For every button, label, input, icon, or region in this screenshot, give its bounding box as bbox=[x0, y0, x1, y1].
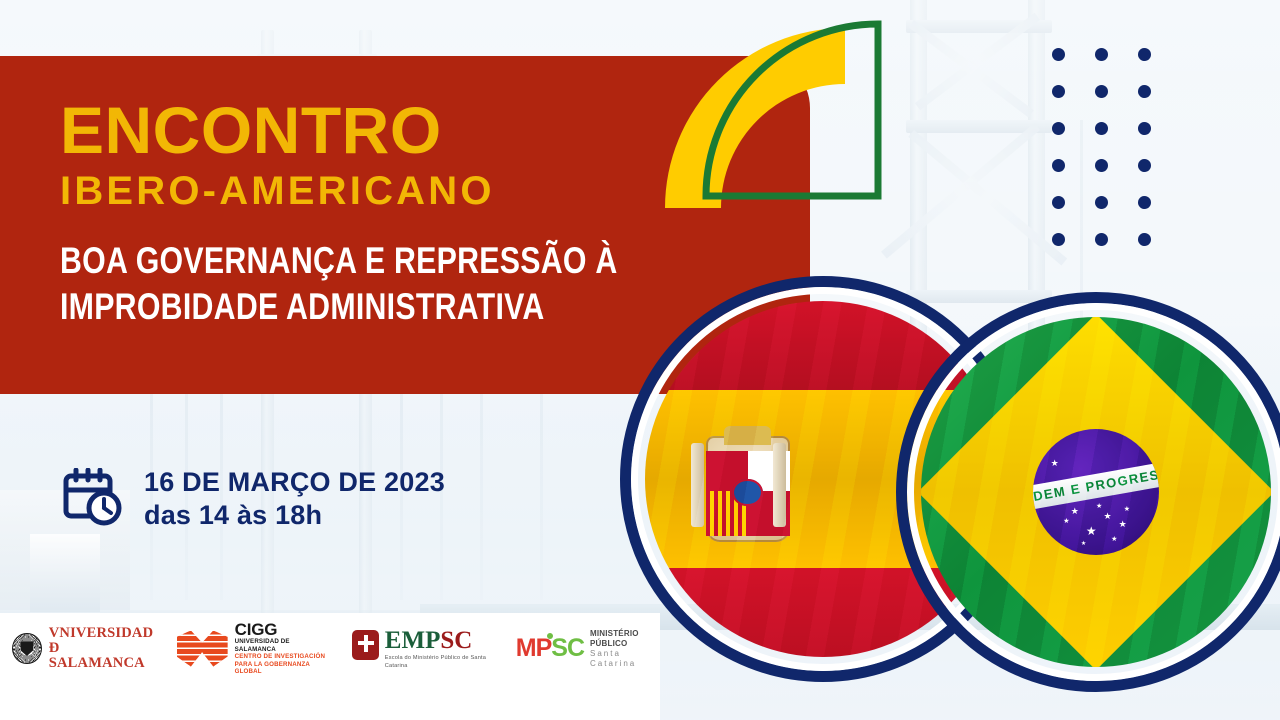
cigg-line1: UNIVERSIDAD DE SALAMANCA bbox=[235, 638, 327, 653]
cigg-wordmark: CIGG UNIVERSIDAD DE SALAMANCA CENTRO DE … bbox=[235, 621, 327, 676]
dot bbox=[1052, 85, 1065, 98]
cigg-line3: PARA LA GOBERNANZA GLOBAL bbox=[235, 661, 327, 676]
dot bbox=[1138, 122, 1151, 135]
cigg-blocks-icon bbox=[177, 631, 228, 667]
bottom-white-strip bbox=[0, 684, 660, 720]
empsc-emblem-icon bbox=[352, 630, 378, 660]
brazil-flag-face: ★ ★ ★ ★ ★ ★ ★ ★ ★ ★ ORDEM E PROGRESSO bbox=[921, 317, 1271, 667]
dot bbox=[1095, 122, 1108, 135]
cigg-line2: CENTRO DE INVESTIGACIÓN bbox=[235, 653, 327, 661]
mpsc-dot-icon bbox=[547, 633, 553, 639]
cigg-logo[interactable]: CIGG UNIVERSIDAD DE SALAMANCA CENTRO DE … bbox=[177, 621, 327, 676]
empsc-tagline: Escola do Ministério Público de Santa Ca… bbox=[385, 654, 496, 670]
mpsc-part1: MP bbox=[516, 634, 552, 662]
dot bbox=[1138, 48, 1151, 61]
event-theme-text: BOA GOVERNANÇA E REPRESSÃO À IMPROBIDADE… bbox=[60, 238, 618, 330]
dot bbox=[1095, 233, 1108, 246]
mpsc-line2: Santa Catarina bbox=[590, 649, 660, 669]
event-datetime: 16 DE MARÇO DE 2023 das 14 às 18h bbox=[62, 466, 445, 532]
mpsc-part2: SC bbox=[551, 634, 584, 662]
sponsor-logo-bar: VNIVERSIDAD Ð SALAMANCA CIGG UNIVERSIDAD… bbox=[0, 613, 660, 684]
datetime-text: 16 DE MARÇO DE 2023 das 14 às 18h bbox=[144, 466, 445, 532]
empsc-logo[interactable]: EMPSC Escola do Ministério Público de Sa… bbox=[352, 628, 495, 670]
dot bbox=[1138, 159, 1151, 172]
dot bbox=[1052, 159, 1065, 172]
title-block: ENCONTRO IBERO-AMERICANO BOA GOVERNANÇA … bbox=[60, 96, 740, 330]
brazil-flag-circle: ★ ★ ★ ★ ★ ★ ★ ★ ★ ★ ORDEM E PROGRESSO bbox=[896, 292, 1280, 692]
page-title: ENCONTRO bbox=[60, 96, 740, 164]
dot bbox=[1138, 196, 1151, 209]
page-subtitle-ibero: IBERO-AMERICANO bbox=[60, 166, 740, 216]
usal-line1: VNIVERSIDAD bbox=[49, 626, 155, 641]
dot bbox=[1052, 48, 1065, 61]
empsc-part1: EMP bbox=[385, 627, 441, 654]
dot bbox=[1052, 122, 1065, 135]
dot bbox=[1095, 196, 1108, 209]
event-time: das 14 às 18h bbox=[144, 499, 445, 532]
universidad-de-salamanca-logo[interactable]: VNIVERSIDAD Ð SALAMANCA bbox=[12, 626, 155, 671]
mpsc-line1: MINISTÉRIO PÚBLICO bbox=[590, 629, 660, 649]
dot bbox=[1052, 233, 1065, 246]
dot bbox=[1138, 233, 1151, 246]
mpsc-subtitle: MINISTÉRIO PÚBLICO Santa Catarina bbox=[590, 629, 660, 669]
calendar-clock-icon bbox=[62, 468, 124, 531]
mpsc-wordmark: MPSC bbox=[516, 636, 584, 661]
usal-wordmark: VNIVERSIDAD Ð SALAMANCA bbox=[49, 626, 155, 671]
dot bbox=[1052, 196, 1065, 209]
dot bbox=[1095, 159, 1108, 172]
dot bbox=[1138, 85, 1151, 98]
event-poster: ENCONTRO IBERO-AMERICANO BOA GOVERNANÇA … bbox=[0, 0, 1280, 720]
empsc-wordmark: EMPSC Escola do Ministério Público de Sa… bbox=[385, 628, 496, 670]
salamanca-seal-icon bbox=[12, 633, 42, 664]
cigg-acronym: CIGG bbox=[235, 621, 327, 638]
dot bbox=[1095, 48, 1108, 61]
dot bbox=[1095, 85, 1108, 98]
dot-grid-decoration bbox=[1052, 48, 1181, 270]
brazil-flag-ring: ★ ★ ★ ★ ★ ★ ★ ★ ★ ★ ORDEM E PROGRESSO bbox=[907, 303, 1280, 681]
empsc-part2: SC bbox=[440, 627, 472, 654]
usal-line2: Ð SALAMANCA bbox=[49, 641, 155, 671]
mpsc-logo[interactable]: MPSC MINISTÉRIO PÚBLICO Santa Catarina bbox=[516, 629, 660, 669]
event-date: 16 DE MARÇO DE 2023 bbox=[144, 466, 445, 499]
